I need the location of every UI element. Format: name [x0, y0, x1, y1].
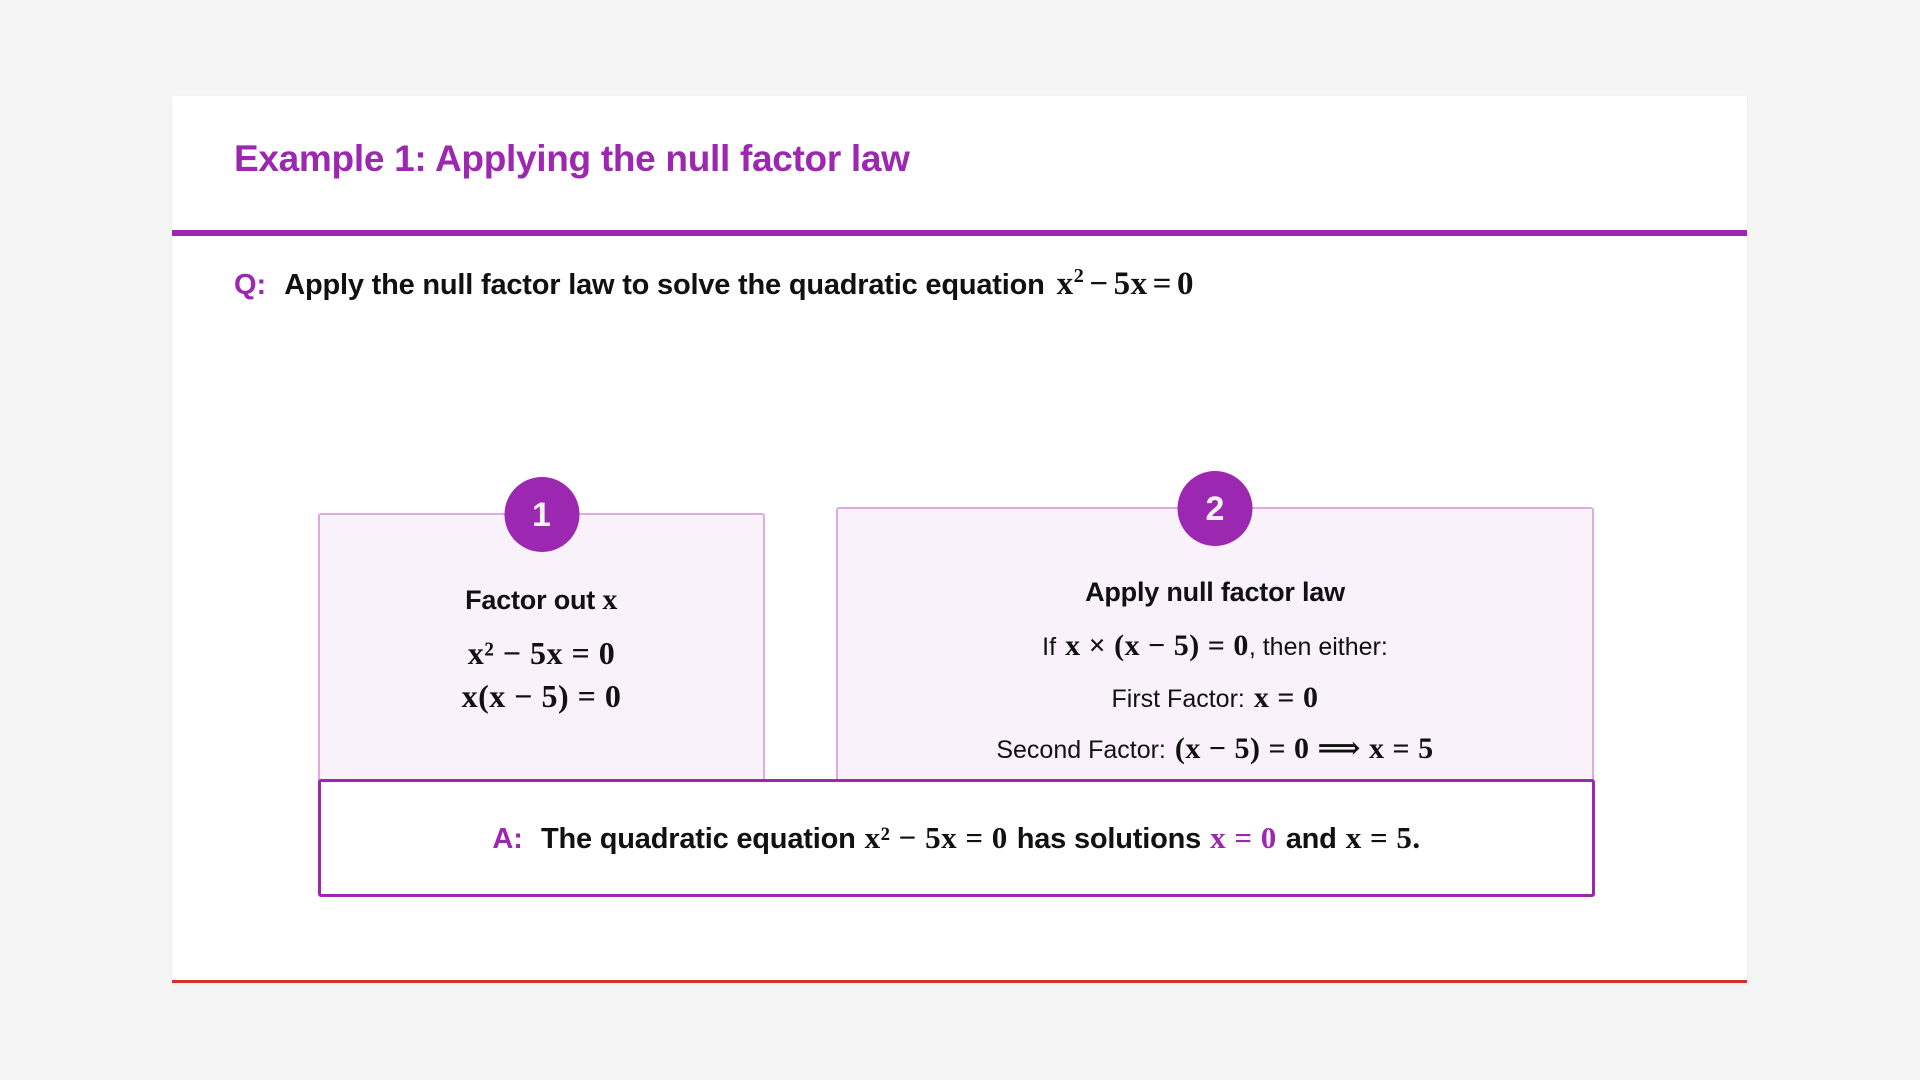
step-title-2-text: Apply null factor law — [1085, 577, 1345, 607]
step-1-equation-2: x(x − 5) = 0 — [320, 678, 763, 715]
question-eq-term: 5x — [1114, 266, 1148, 302]
step-2-line-1-suffix: , then either: — [1249, 633, 1388, 661]
answer-lead-text: The quadratic equation — [541, 823, 856, 856]
step-body-1: Factor out x x² − 5x = 0 x(x − 5) = 0 — [320, 583, 763, 721]
step-badge-2: 2 — [1178, 471, 1253, 546]
step-2-line-1-math: x × (x − 5) = 0 — [1065, 629, 1249, 662]
step-title-1-text: Factor out — [465, 585, 595, 615]
answer-conjunction: and — [1286, 823, 1337, 856]
step-2-line-2-math: x = 0 — [1254, 681, 1319, 714]
question-equation: x2−5x=0 — [1057, 266, 1194, 303]
step-title-2: Apply null factor law — [838, 577, 1592, 608]
answer-solution-2: x = 5 — [1346, 820, 1413, 856]
step-1-equation-1-math: x² − 5x = 0 — [468, 635, 616, 671]
question-eq-base: x — [1057, 266, 1074, 302]
question-eq-equals: = — [1148, 266, 1177, 302]
question-tag: Q: — [234, 269, 266, 302]
answer-period: . — [1412, 820, 1420, 856]
content-card: Example 1: Applying the null factor law … — [172, 96, 1747, 983]
answer-box: A: The quadratic equationx² − 5x = 0has … — [318, 779, 1595, 897]
card-bottom-rule — [172, 980, 1747, 983]
answer-solution-1: x = 0 — [1210, 820, 1277, 856]
step-2-line-3-prefix: Second Factor: — [996, 736, 1166, 764]
step-title-1: Factor out x — [320, 583, 763, 617]
question-row: Q: Apply the null factor law to solve th… — [234, 266, 1194, 303]
step-2-line-1-prefix: If — [1042, 633, 1056, 661]
question-text: Apply the null factor law to solve the q… — [284, 269, 1044, 302]
step-1-equation-2-math: x(x − 5) = 0 — [462, 678, 622, 714]
answer-equation: x² − 5x = 0 — [865, 820, 1008, 856]
step-2-line-1: Ifx × (x − 5) = 0, then either: — [838, 626, 1592, 667]
page-title: Example 1: Applying the null factor law — [234, 138, 910, 180]
step-badge-1: 1 — [504, 477, 579, 552]
question-eq-exponent: 2 — [1074, 265, 1085, 287]
step-2-line-3-math: (x − 5) = 0 ⟹ x = 5 — [1175, 732, 1434, 765]
answer-row: A: The quadratic equationx² − 5x = 0has … — [492, 820, 1420, 856]
step-2-line-3: Second Factor:(x − 5) = 0 ⟹ x = 5 — [838, 729, 1592, 770]
step-2-line-2-prefix: First Factor: — [1112, 685, 1245, 713]
question-eq-rhs: 0 — [1177, 266, 1194, 302]
header-divider-rule — [172, 230, 1747, 236]
step-body-2: Apply null factor law Ifx × (x − 5) = 0,… — [838, 577, 1592, 781]
step-2-line-2: First Factor:x = 0 — [838, 678, 1592, 719]
step-title-1-math: x — [602, 583, 618, 616]
answer-tag: A: — [492, 823, 523, 856]
question-eq-minus: − — [1084, 266, 1113, 302]
answer-middle-text: has solutions — [1017, 823, 1201, 856]
slide-stage: Example 1: Applying the null factor law … — [0, 0, 1920, 1080]
card-header: Example 1: Applying the null factor law — [172, 96, 1747, 230]
step-1-equation-1: x² − 5x = 0 — [320, 635, 763, 672]
